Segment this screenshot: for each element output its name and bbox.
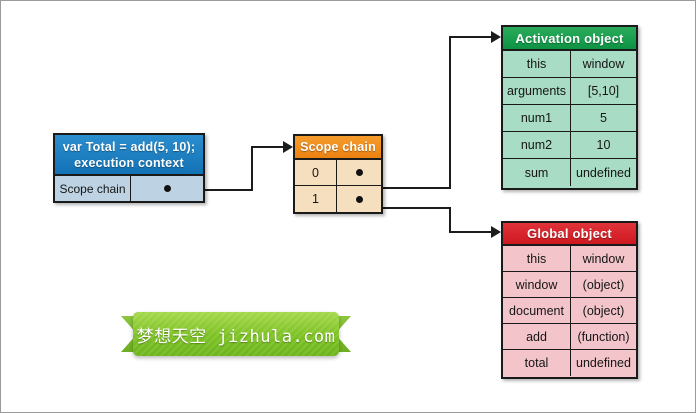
execution-context-header-line2: execution context — [74, 155, 184, 171]
global-key-3: add — [503, 324, 571, 349]
global-key-2: document — [503, 298, 571, 323]
connector-scope0-to-activation-h2 — [449, 36, 491, 38]
activation-value-4: undefined — [571, 159, 636, 186]
scope-chain-header: Scope chain — [295, 136, 381, 160]
global-value-1: (object) — [571, 272, 636, 297]
table-row: document (object) — [503, 298, 636, 324]
pointer-dot-icon — [164, 185, 171, 192]
execution-context-header-line1: var Total = add(5, 10); — [63, 139, 196, 155]
scope-chain-index-0: 0 — [295, 160, 337, 185]
table-row: total undefined — [503, 350, 636, 376]
connector-scope1-to-global-v — [449, 207, 451, 233]
table-row: window (object) — [503, 272, 636, 298]
table-row: this window — [503, 246, 636, 272]
pointer-dot-icon — [356, 169, 363, 176]
global-object-header: Global object — [503, 223, 636, 246]
scope-chain-pointer-1 — [337, 186, 381, 212]
scope-chain-index-1: 1 — [295, 186, 337, 212]
global-value-3: (function) — [571, 324, 636, 349]
activation-value-0: window — [571, 51, 636, 77]
watermark-panel: 梦想天空 jizhula.com — [133, 312, 339, 356]
watermark-text: 梦想天空 jizhula.com — [137, 322, 336, 347]
watermark-banner: 梦想天空 jizhula.com — [121, 312, 351, 360]
table-row: add (function) — [503, 324, 636, 350]
execution-context-row-value — [131, 176, 203, 201]
table-row: arguments [5,10] — [503, 78, 636, 105]
global-value-0: window — [571, 246, 636, 271]
table-row: this window — [503, 51, 636, 78]
global-key-1: window — [503, 272, 571, 297]
arrow-into-global-object — [491, 226, 501, 238]
arrow-into-activation-object — [491, 31, 501, 43]
execution-context-box: var Total = add(5, 10); execution contex… — [53, 133, 205, 203]
activation-key-3: num2 — [503, 132, 571, 158]
table-row: num1 5 — [503, 105, 636, 132]
connector-scope0-to-activation-h1 — [379, 187, 451, 189]
execution-context-header: var Total = add(5, 10); execution contex… — [55, 135, 203, 176]
connector-exec-to-scope-v — [251, 147, 253, 191]
activation-key-0: this — [503, 51, 571, 77]
table-row: sum undefined — [503, 159, 636, 186]
activation-key-1: arguments — [503, 78, 571, 104]
global-value-4: undefined — [571, 350, 636, 376]
global-key-4: total — [503, 350, 571, 376]
connector-scope0-to-activation-v — [449, 37, 451, 189]
global-key-0: this — [503, 246, 571, 271]
activation-key-2: num1 — [503, 105, 571, 131]
scope-chain-row-1: 1 — [295, 186, 381, 212]
connector-exec-to-scope-h2 — [251, 146, 283, 148]
activation-object-header: Activation object — [503, 27, 636, 51]
activation-value-1: [5,10] — [571, 78, 636, 104]
diagram-canvas: var Total = add(5, 10); execution contex… — [0, 0, 696, 413]
activation-object-table: Activation object this window arguments … — [501, 25, 638, 190]
scope-chain-row-0: 0 — [295, 160, 381, 186]
pointer-dot-icon — [356, 196, 363, 203]
activation-key-4: sum — [503, 159, 571, 186]
scope-chain-box: Scope chain 0 1 — [293, 134, 383, 214]
global-object-table: Global object this window window (object… — [501, 221, 638, 379]
execution-context-row-scope-chain: Scope chain — [55, 176, 203, 201]
activation-value-3: 10 — [571, 132, 636, 158]
connector-scope1-to-global-h1 — [379, 207, 451, 209]
activation-value-2: 5 — [571, 105, 636, 131]
table-row: num2 10 — [503, 132, 636, 159]
execution-context-row-label: Scope chain — [55, 176, 131, 201]
arrow-into-scope-chain — [283, 141, 293, 153]
scope-chain-pointer-0 — [337, 160, 381, 185]
connector-scope1-to-global-h2 — [449, 231, 491, 233]
connector-exec-to-scope-h1 — [201, 189, 253, 191]
global-value-2: (object) — [571, 298, 636, 323]
